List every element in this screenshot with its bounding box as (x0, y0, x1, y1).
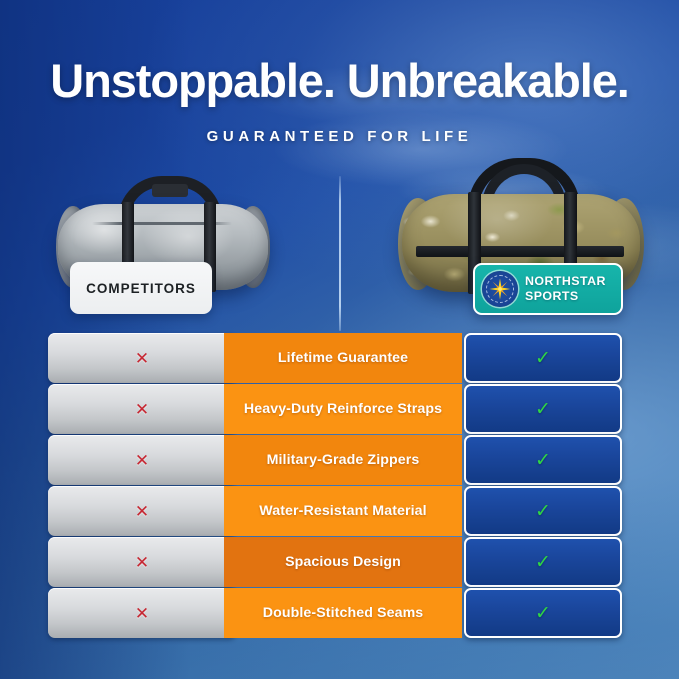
brand-cell: ✓ (464, 537, 622, 587)
cross-icon: ✕ (135, 401, 149, 418)
table-row: ✕✓Military-Grade Zippers (0, 435, 679, 485)
bag-strap (416, 246, 624, 257)
check-icon: ✓ (535, 349, 551, 368)
check-icon: ✓ (535, 604, 551, 623)
cross-icon: ✕ (135, 605, 149, 622)
table-row: ✕✓Water-Resistant Material (0, 486, 679, 536)
page-title: Unstoppable. Unbreakable. (0, 56, 679, 105)
feature-label: Military-Grade Zippers (224, 435, 462, 485)
cross-icon: ✕ (135, 350, 149, 367)
feature-label: Water-Resistant Material (224, 486, 462, 536)
competitor-cell: ✕ (48, 486, 236, 536)
feature-label: Lifetime Guarantee (224, 333, 462, 383)
competitor-cell: ✕ (48, 435, 236, 485)
cross-icon: ✕ (135, 554, 149, 571)
table-row: ✕✓Lifetime Guarantee (0, 333, 679, 383)
competitors-badge: COMPETITORS (70, 262, 212, 314)
brand-cell: ✓ (464, 333, 622, 383)
check-icon: ✓ (535, 451, 551, 470)
brand-name-line1: NORTHSTAR (525, 274, 606, 289)
product-comparison-infographic: Unstoppable. Unbreakable. GUARANTEED FOR… (0, 0, 679, 679)
check-icon: ✓ (535, 502, 551, 521)
feature-label: Double-Stitched Seams (224, 588, 462, 638)
feature-comparison-table: ✕✓Lifetime Guarantee✕✓Heavy-Duty Reinfor… (0, 333, 679, 639)
table-row: ✕✓Spacious Design (0, 537, 679, 587)
table-row: ✕✓Double-Stitched Seams (0, 588, 679, 638)
table-row: ✕✓Heavy-Duty Reinforce Straps (0, 384, 679, 434)
brand-name-text: NORTHSTAR SPORTS (525, 274, 606, 304)
cross-icon: ✕ (135, 452, 149, 469)
brand-cell: ✓ (464, 486, 622, 536)
compass-star-icon (482, 271, 518, 307)
feature-label: Heavy-Duty Reinforce Straps (224, 384, 462, 434)
check-icon: ✓ (535, 553, 551, 572)
brand-name-line2: SPORTS (525, 289, 606, 304)
northstar-brand-badge: NORTHSTAR SPORTS (473, 263, 623, 315)
check-icon: ✓ (535, 400, 551, 419)
brand-cell: ✓ (464, 384, 622, 434)
handle-wrap (152, 184, 188, 197)
brand-cell: ✓ (464, 435, 622, 485)
competitor-cell: ✕ (48, 333, 236, 383)
cross-icon: ✕ (135, 503, 149, 520)
page-subtitle: GUARANTEED FOR LIFE (0, 128, 679, 145)
vertical-divider-icon (339, 176, 341, 331)
feature-label: Spacious Design (224, 537, 462, 587)
competitor-cell: ✕ (48, 384, 236, 434)
brand-cell: ✓ (464, 588, 622, 638)
competitor-cell: ✕ (48, 588, 236, 638)
competitor-cell: ✕ (48, 537, 236, 587)
